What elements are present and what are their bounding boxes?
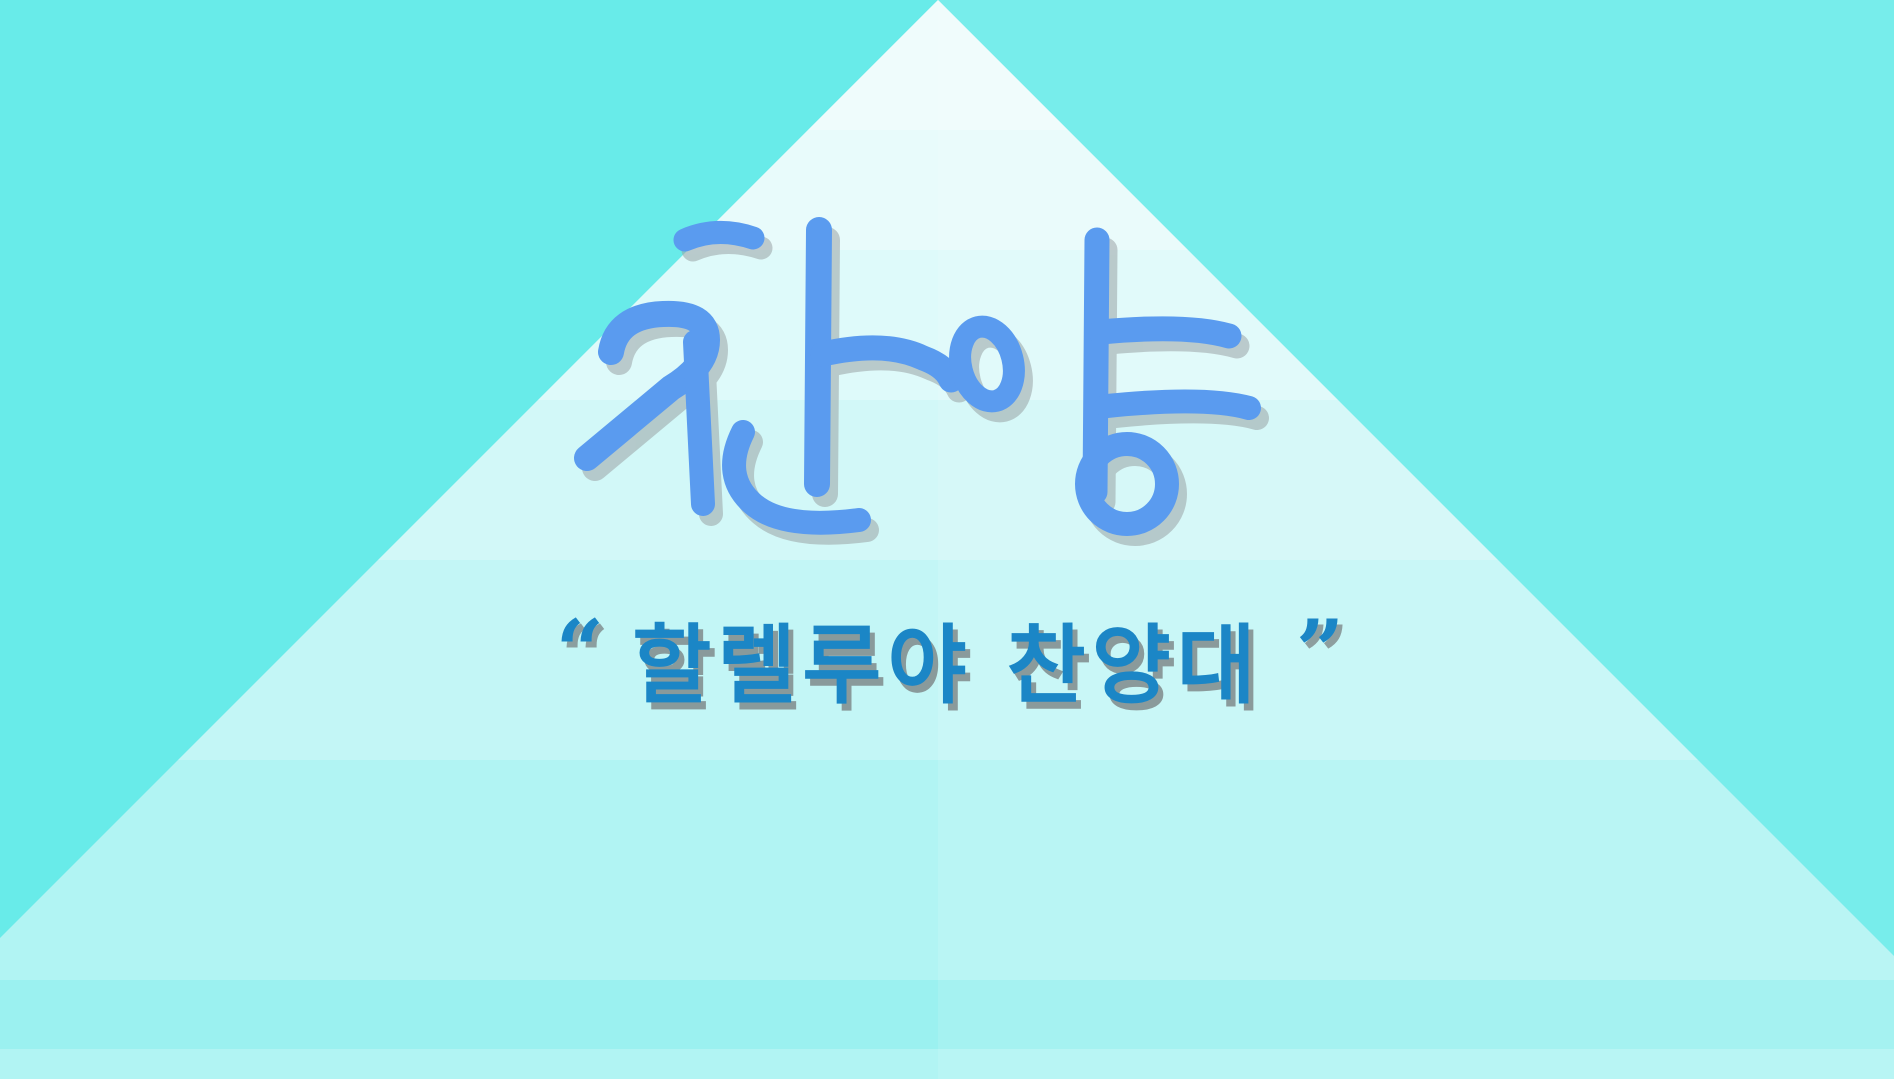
subtitle-part-2: 찬양대 <box>1007 616 1262 716</box>
chevron-band-8 <box>808 0 1068 130</box>
slide-canvas: “ 할렐루야찬양대 ” <box>0 0 1894 1079</box>
background-chevron-rays <box>0 0 1894 1079</box>
slide-subtitle: “ 할렐루야찬양대 ” <box>0 592 1894 722</box>
subtitle-text: 할렐루야찬양대 <box>632 595 1262 720</box>
close-quote-mark: ” <box>1296 626 1338 676</box>
subtitle-part-1: 할렐루야 <box>632 616 972 716</box>
bottom-tint-band <box>0 1049 1894 1079</box>
open-quote-mark: “ <box>556 626 598 676</box>
